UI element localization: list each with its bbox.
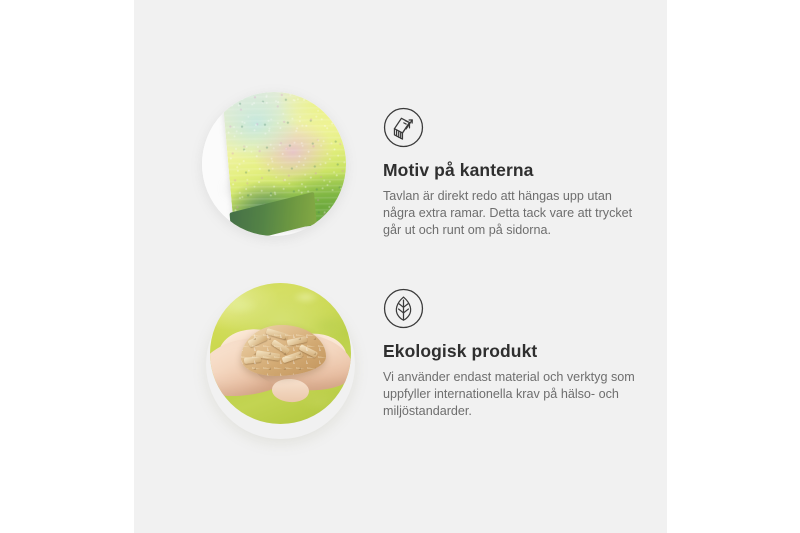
feature-title: Ekologisk produkt — [383, 341, 653, 362]
feature-text-wrapped-edges: Motiv på kanterna Tavlan är direkt redo … — [383, 107, 653, 239]
left-white-margin — [0, 0, 134, 533]
feature-title: Motiv på kanterna — [383, 160, 653, 181]
right-white-margin — [667, 0, 800, 533]
feature-text-eco-product: Ekologisk produkt Vi använder endast mat… — [383, 288, 653, 420]
canvas-wrapped-edges-icon — [383, 107, 424, 148]
wood-chips-pile — [241, 325, 326, 376]
canvas-print-corner-photo — [202, 92, 346, 236]
feature-description: Vi använder endast material och verktyg … — [383, 369, 645, 421]
hands-holding-wood-chips-photo — [210, 283, 351, 424]
leaf-icon — [383, 288, 424, 329]
canvas-print-object — [222, 92, 346, 234]
product-feature-banner: Motiv på kanterna Tavlan är direkt redo … — [0, 0, 800, 533]
feature-description: Tavlan är direkt redo att hängas upp uta… — [383, 188, 645, 240]
banner-canvas-area — [134, 0, 667, 533]
